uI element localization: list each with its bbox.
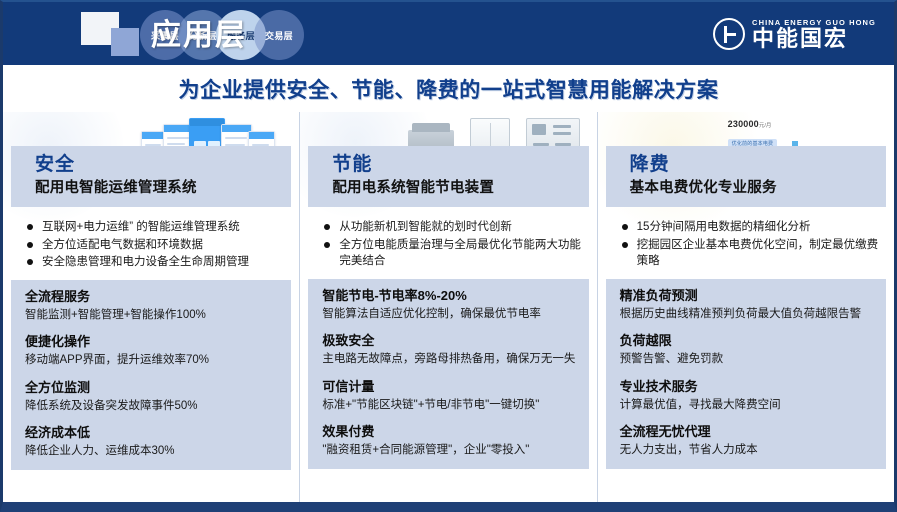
feature-desc: 智能算法自适应优化控制，确保最优节电率 (322, 307, 578, 323)
list-item: 互联网+电力运维” 的智能运维管理系统 (25, 219, 285, 236)
feature-desc: "融资租赁+合同能源管理"，企业"零投入" (322, 443, 578, 459)
feature-title: 精准负荷预测 (620, 288, 876, 305)
feature-panel-energy-saving: 智能节电-节电率8%-20% 智能算法自适应优化控制，确保最优节电率 极致安全 … (308, 279, 588, 469)
feature-item: 全方位监测 降低系统及设备突发故障事件50% (25, 380, 281, 414)
feature-desc: 主电路无故障点，旁路母排热备用，确保万无一失 (322, 352, 578, 368)
feature-desc: 预警告警、避免罚款 (620, 352, 876, 368)
feature-panel-cost-reduction: 精准负荷预测 根据历史曲线精准预判负荷最大值负荷越限告警 负荷越限 预警告警、避… (606, 279, 886, 469)
feature-item: 全流程无忧代理 无人力支出，节省人力成本 (620, 424, 876, 458)
column-header-cost-reduction: 降费 基本电费优化专业服务 (606, 146, 886, 207)
bullet-list-security: 互联网+电力运维” 的智能运维管理系统 全方位适配电气数据和环境数据 安全隐患管… (11, 219, 291, 271)
list-item: 安全隐患管理和电力设备全生命周期管理 (25, 254, 285, 271)
feature-title: 专业技术服务 (620, 379, 876, 396)
header-title: 应用层 (151, 10, 247, 54)
feature-desc: 无人力支出，节省人力成本 (620, 443, 876, 459)
column-header-energy-saving: 节能 配用电系统智能节电装置 (308, 146, 588, 207)
list-item: 15分钟间隔用电数据的精细化分析 (620, 219, 880, 236)
feature-item: 全流程服务 智能监测+智能管理+智能操作100% (25, 289, 281, 323)
brand-logo-chinese: 中能国宏 (752, 28, 876, 50)
feature-title: 全流程无忧代理 (620, 424, 876, 441)
feature-title: 全流程服务 (25, 289, 281, 306)
brand-logo: CHINA ENERGY GUO HONG 中能国宏 (713, 16, 876, 52)
feature-desc: 降低企业人力、运维成本30% (25, 444, 281, 460)
slide-root: 采集层 分析层 服务层 交易层 应用层 CHINA ENERGY GUO HON… (0, 0, 897, 512)
g-circle-logo-icon (713, 18, 745, 50)
feature-panel-security: 全流程服务 智能监测+智能管理+智能操作100% 便捷化操作 移动端APP界面，… (11, 280, 291, 470)
column-header-security: 安全 配用电智能运维管理系统 (11, 146, 291, 207)
column-subtitle: 基本电费优化专业服务 (630, 180, 886, 197)
feature-item: 极致安全 主电路无故障点，旁路母排热备用，确保万无一失 (322, 333, 578, 367)
feature-desc: 根据历史曲线精准预判负荷最大值负荷越限告警 (620, 307, 876, 323)
feature-item: 专业技术服务 计算最优值，寻找最大降费空间 (620, 379, 876, 413)
feature-desc: 移动端APP界面，提升运维效率70% (25, 353, 281, 369)
bullet-list-energy-saving: 从功能新机到智能就的划时代创新 全方位电能质量治理与全局最优化节能两大功能完美结… (308, 219, 588, 270)
feature-item: 智能节电-节电率8%-20% 智能算法自适应优化控制，确保最优节电率 (322, 288, 578, 322)
feature-desc: 标准+"节能区块链"+节电/非节电"一键切换" (322, 398, 578, 414)
list-item: 全方位电能质量治理与全局最优化节能两大功能完美结合 (322, 237, 582, 270)
feature-title: 负荷越限 (620, 333, 876, 350)
feature-title: 极致安全 (322, 333, 578, 350)
column-subtitle: 配用电系统智能节电装置 (332, 180, 588, 197)
pk-before-unit: 元/月 (759, 123, 772, 129)
layer-circle-trade[interactable]: 交易层 (254, 10, 304, 60)
bullet-list-cost-reduction: 15分钟间隔用电数据的精细化分析 挖掘园区企业基本电费优化空间，制定最优缴费策略 (606, 219, 886, 270)
feature-item: 精准负荷预测 根据历史曲线精准预判负荷最大值负荷越限告警 (620, 288, 876, 322)
feature-item: 便捷化操作 移动端APP界面，提升运维效率70% (25, 334, 281, 368)
column-kicker: 节能 (332, 154, 588, 176)
column-subtitle: 配用电智能运维管理系统 (35, 180, 291, 197)
column-security: 安全 配用电智能运维管理系统 互联网+电力运维” 的智能运维管理系统 全方位适配… (3, 112, 299, 502)
column-kicker: 降费 (630, 154, 886, 176)
column-cost-reduction: 230000元/月 优化前的基本电费 PK 70000元/月 160000元/月… (597, 112, 894, 502)
feature-title: 可信计量 (322, 379, 578, 396)
list-item: 全方位适配电气数据和环境数据 (25, 237, 285, 254)
column-energy-saving: 节能 配用电系统智能节电装置 从功能新机到智能就的划时代创新 全方位电能质量治理… (299, 112, 596, 502)
feature-title: 便捷化操作 (25, 334, 281, 351)
feature-item: 经济成本低 降低企业人力、运维成本30% (25, 425, 281, 459)
feature-title: 效果付费 (322, 424, 578, 441)
feature-title: 智能节电-节电率8%-20% (322, 288, 578, 305)
feature-item: 负荷越限 预警告警、避免罚款 (620, 333, 876, 367)
list-item: 从功能新机到智能就的划时代创新 (322, 219, 582, 236)
column-kicker: 安全 (35, 154, 291, 176)
feature-item: 可信计量 标准+"节能区块链"+节电/非节电"一键切换" (322, 379, 578, 413)
page-title: 为企业提供安全、节能、降费的一站式智慧用能解决方案 (3, 74, 894, 104)
feature-item: 效果付费 "融资租赁+合同能源管理"，企业"零投入" (322, 424, 578, 458)
header-bar: 采集层 分析层 服务层 交易层 应用层 CHINA ENERGY GUO HON… (3, 2, 894, 65)
feature-desc: 计算最优值，寻找最大降费空间 (620, 398, 876, 414)
pk-before-value: 230000 (728, 119, 759, 129)
feature-title: 经济成本低 (25, 425, 281, 442)
feature-title: 全方位监测 (25, 380, 281, 397)
logo-square-blue-icon (111, 28, 139, 56)
list-item: 挖掘园区企业基本电费优化空间，制定最优缴费策略 (620, 237, 880, 270)
feature-desc: 降低系统及设备突发故障事件50% (25, 399, 281, 415)
layer-circle-label: 交易层 (265, 29, 293, 42)
columns-container: 安全 配用电智能运维管理系统 互联网+电力运维” 的智能运维管理系统 全方位适配… (3, 112, 894, 502)
feature-desc: 智能监测+智能管理+智能操作100% (25, 308, 281, 324)
